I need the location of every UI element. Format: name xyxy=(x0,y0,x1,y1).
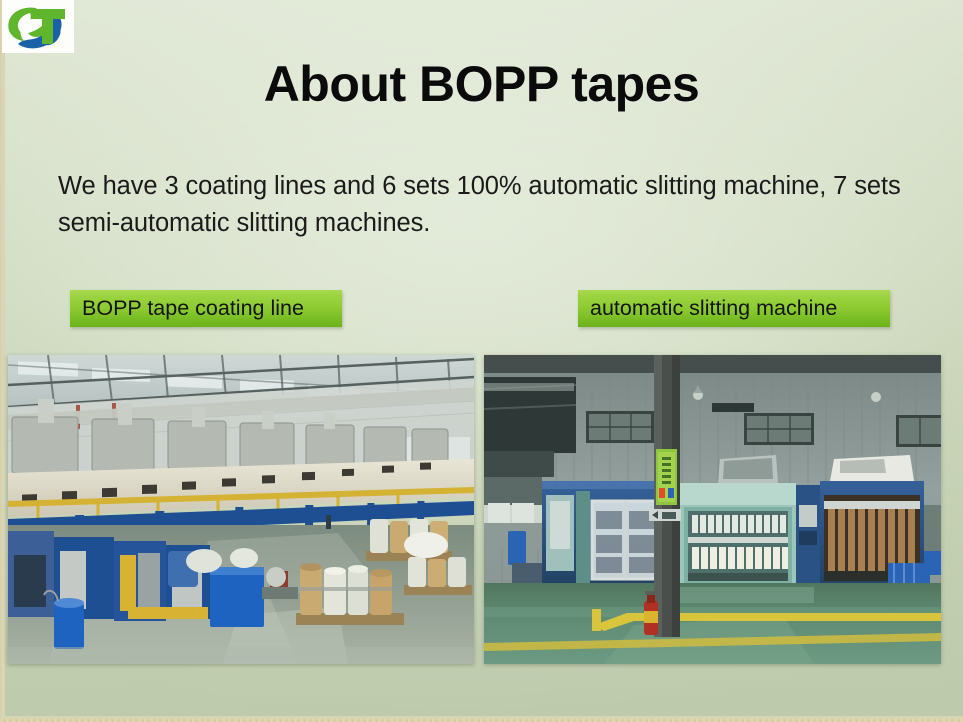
company-logo xyxy=(2,0,74,53)
page-title: About BOPP tapes xyxy=(0,57,963,112)
caption-automatic-slitting-machine: automatic slitting machine xyxy=(578,290,890,327)
caption-bopp-tape-coating-line: BOPP tape coating line xyxy=(70,290,342,327)
photo-slitting-machine xyxy=(484,355,941,664)
body-paragraph: We have 3 coating lines and 6 sets 100% … xyxy=(58,168,903,242)
caption-left-label: BOPP tape coating line xyxy=(82,296,304,321)
caption-right-label: automatic slitting machine xyxy=(590,296,837,321)
slide-about-bopp-tapes: About BOPP tapes We have 3 coating lines… xyxy=(0,0,963,722)
photo-coating-line xyxy=(8,355,474,664)
